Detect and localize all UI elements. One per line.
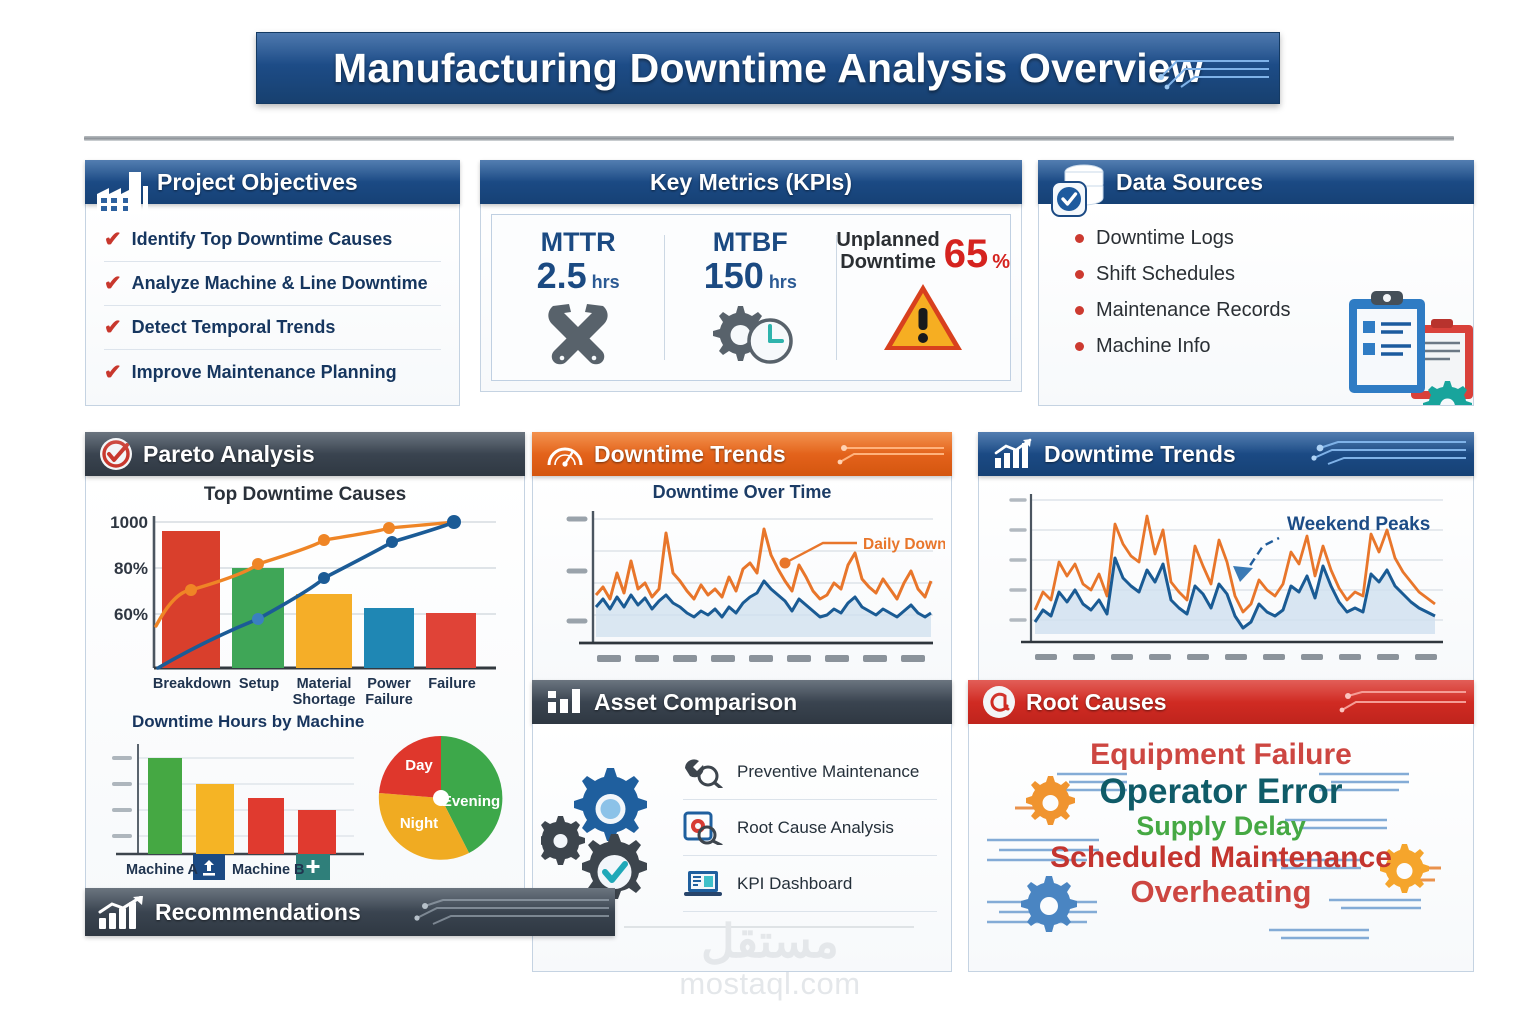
datasources-header-title: Data Sources (1116, 169, 1263, 196)
data-source-label: Downtime Logs (1096, 227, 1234, 250)
page-title-banner: Manufacturing Downtime Analysis Overview (256, 32, 1280, 104)
legend-daily-downtime: Daily Downtime (863, 536, 945, 553)
objectives-header-title: Project Objectives (157, 169, 358, 196)
bar-blocks-icon (546, 687, 584, 717)
objective-item: ✔ Detect Temporal Trends (104, 306, 441, 350)
trends-blue-body: Weekend Peaks (978, 476, 1474, 684)
objective-label: Analyze Machine & Line Downtime (132, 273, 428, 294)
circuit-decoration-icon (411, 896, 611, 930)
bullet-icon (1075, 270, 1084, 279)
pareto-ytick: 80% (114, 559, 148, 578)
pie-label-evening: Evening (442, 793, 500, 810)
pareto-xtick: Failure (428, 676, 476, 692)
kpi-warn-top: Unplanned Downtime 65 % (836, 229, 1010, 274)
machine-bar (248, 798, 284, 854)
pareto-chart-title: Top Downtime Causes (96, 484, 514, 506)
machine-xtick: Machine B (232, 862, 305, 878)
xtick-marks (597, 655, 925, 662)
pareto-xtick: Breakdown (153, 676, 231, 692)
chart-downtime-by-shift: Day Evening Night (379, 736, 503, 860)
machine-chart-title: Downtime Hours by Machine (96, 712, 514, 732)
recommendations-header: Recommendations (85, 888, 615, 936)
circuit-decoration-icon (1308, 438, 1468, 472)
data-source-label: Shift Schedules (1096, 263, 1235, 286)
kpi-header: Key Metrics (KPIs) (480, 160, 1022, 204)
kpi-unit: hrs (592, 272, 620, 293)
annotation-weekend-peaks: Weekend Peaks (1287, 514, 1430, 535)
data-source-item: Downtime Logs (1075, 220, 1455, 256)
asset-item[interactable]: KPI Dashboard (683, 856, 937, 912)
asset-list: Preventive Maintenance Root Cause Analys… (683, 744, 937, 912)
chart-downtime-hours-by-machine: Machine A Machine B Day Evening Night (96, 732, 514, 892)
root-cause-item: Supply Delay (969, 811, 1473, 841)
trends-blue-header-title: Downtime Trends (1044, 441, 1236, 468)
asset-item[interactable]: Root Cause Analysis (683, 800, 937, 856)
objectives-header: Project Objectives (85, 160, 460, 204)
pareto-bar (364, 608, 414, 668)
root-cause-list: Equipment Failure Operator Error Supply … (969, 738, 1473, 909)
pareto-bar (296, 594, 352, 668)
kpi-unit: % (992, 251, 1010, 274)
check-icon: ✔ (104, 273, 122, 294)
check-icon: ✔ (104, 362, 122, 383)
asset-header: Asset Comparison (532, 680, 952, 724)
kpi-label: MTBF (713, 229, 788, 256)
magnifier-target-icon (683, 811, 723, 845)
datasources-body: Downtime Logs Shift Schedules Maintenanc… (1038, 204, 1474, 406)
clipboard-gear-icon (1323, 285, 1474, 406)
panel-key-metrics: Key Metrics (KPIs) MTTR 2.5 hrs (480, 160, 1022, 392)
target-check-icon (99, 437, 133, 471)
kpi-cell-unplanned-downtime: Unplanned Downtime 65 % (836, 215, 1010, 380)
page-title: Manufacturing Downtime Analysis Overview (333, 45, 1203, 92)
pareto-bar (426, 613, 476, 668)
chart-pareto-top-causes: 1000 80% 60% (96, 506, 514, 706)
kpi-value: 65 (944, 234, 989, 274)
trends-orange-header: Downtime Trends (532, 432, 952, 476)
asset-label: Preventive Maintenance (737, 762, 919, 782)
panel-downtime-trends-blue: Downtime Trends (978, 432, 1474, 684)
factory-icon (93, 164, 151, 218)
machine-bar (196, 784, 234, 854)
objective-item: ✔ Identify Top Downtime Causes (104, 218, 441, 262)
objective-label: Improve Maintenance Planning (132, 362, 397, 383)
rootcauses-header: Root Causes (968, 680, 1474, 724)
pareto-body: Top Downtime Causes 1000 80% 60% (85, 476, 525, 910)
kpi-cell-mtbf: MTBF 150 hrs (664, 215, 836, 380)
pareto-xtick: Material (297, 676, 352, 692)
circuit-decoration-icon (1151, 43, 1271, 95)
infographic-page: Manufacturing Downtime Analysis Overview (0, 0, 1536, 1024)
kpi-label: Unplanned Downtime (836, 229, 939, 274)
bar-trend-icon (97, 896, 147, 930)
data-source-label: Maintenance Records (1096, 299, 1291, 322)
kpi-cell-mttr: MTTR 2.5 hrs (492, 215, 664, 380)
wrench-screwdriver-icon (537, 300, 619, 368)
pareto-header-title: Pareto Analysis (143, 441, 315, 468)
objectives-body: ✔ Identify Top Downtime Causes ✔ Analyze… (85, 204, 460, 406)
panel-root-causes: Root Causes (968, 680, 1474, 972)
machine-bar (148, 758, 182, 854)
data-source-label: Machine Info (1096, 335, 1211, 358)
kpi-value: 150 (704, 258, 764, 294)
circuit-decoration-icon (1338, 688, 1468, 718)
objective-item: ✔ Analyze Machine & Line Downtime (104, 262, 441, 306)
at-circle-icon (982, 685, 1016, 719)
pareto-ytick: 60% (114, 605, 148, 624)
bullet-icon (1075, 306, 1084, 315)
objective-item: ✔ Improve Maintenance Planning (104, 350, 441, 394)
pareto-blue-points (252, 613, 264, 625)
asset-label: Root Cause Analysis (737, 818, 894, 838)
objective-label: Detect Temporal Trends (132, 317, 336, 338)
rootcauses-header-title: Root Causes (1026, 689, 1167, 716)
header-divider (84, 136, 1454, 141)
asset-item[interactable]: Preventive Maintenance (683, 744, 937, 800)
trends-blue-header: Downtime Trends (978, 432, 1474, 476)
panel-pareto-analysis: Pareto Analysis Top Downtime Causes 1000… (85, 432, 525, 910)
pareto-bar (162, 531, 220, 668)
downtime-over-time-title: Downtime Over Time (541, 482, 943, 503)
kpi-body: MTTR 2.5 hrs MTBF (480, 204, 1022, 392)
chart-weekend-peaks: Weekend Peaks (987, 482, 1467, 676)
machine-bar (298, 810, 336, 854)
asset-label: KPI Dashboard (737, 874, 852, 894)
root-cause-item: Overheating (969, 875, 1473, 910)
kpi-header-title: Key Metrics (KPIs) (650, 169, 852, 196)
circuit-decoration-icon (836, 440, 946, 470)
kpi-value-row: 2.5 hrs (537, 258, 620, 294)
panel-data-sources: Data Sources Downtime Logs Shift Schedul… (1038, 160, 1474, 406)
rootcauses-body: Equipment Failure Operator Error Supply … (968, 724, 1474, 972)
datasources-header: Data Sources (1038, 160, 1474, 204)
pareto-xtick: Power (367, 676, 411, 692)
watermark-rule (624, 926, 914, 928)
bullet-icon (1075, 234, 1084, 243)
pareto-xtick: Failure (365, 692, 413, 706)
objective-label: Identify Top Downtime Causes (132, 229, 393, 250)
pie-label-night: Night (400, 815, 438, 832)
pie-label-day: Day (405, 757, 433, 774)
root-cause-item: Equipment Failure (969, 738, 1473, 772)
chart-downtime-over-time: Daily Downtime (541, 503, 945, 675)
panel-project-objectives: Project Objectives ✔ Identify Top Downti… (85, 160, 460, 406)
xtick-marks (1035, 654, 1437, 660)
trends-orange-header-title: Downtime Trends (594, 441, 786, 468)
kpi-inner: MTTR 2.5 hrs MTBF (491, 214, 1011, 381)
gauge-icon (546, 440, 584, 468)
panel-downtime-trends-orange: Downtime Trends Downtime Over Time (532, 432, 952, 684)
database-check-icon (1048, 162, 1110, 220)
panel-recommendations: Recommendations (85, 888, 615, 936)
pareto-xtick: Setup (239, 676, 279, 692)
wrench-magnifier-icon (683, 756, 723, 788)
check-icon: ✔ (104, 229, 122, 250)
gear-clock-icon (704, 300, 796, 368)
pareto-header: Pareto Analysis (85, 432, 525, 476)
root-cause-item: Operator Error (969, 772, 1473, 811)
kpi-value-row: 150 hrs (704, 258, 797, 294)
pareto-xtick: Shortage (293, 692, 356, 706)
kpi-value: 2.5 (537, 258, 587, 294)
kpi-label: MTTR (541, 229, 616, 256)
warning-triangle-icon (880, 280, 966, 354)
asset-header-title: Asset Comparison (594, 689, 797, 716)
bar-trend-icon (992, 438, 1034, 470)
trends-orange-body: Downtime Over Time Daily Dow (532, 476, 952, 684)
root-cause-item: Scheduled Maintenance (969, 841, 1473, 875)
machine-xtick: Machine A (126, 862, 199, 878)
bullet-icon (1075, 342, 1084, 351)
pareto-ytick: 1000 (110, 513, 148, 532)
recommendations-header-title: Recommendations (155, 899, 361, 926)
kpi-unit: hrs (769, 272, 797, 293)
check-icon: ✔ (104, 317, 122, 338)
laptop-dashboard-icon (683, 868, 723, 900)
